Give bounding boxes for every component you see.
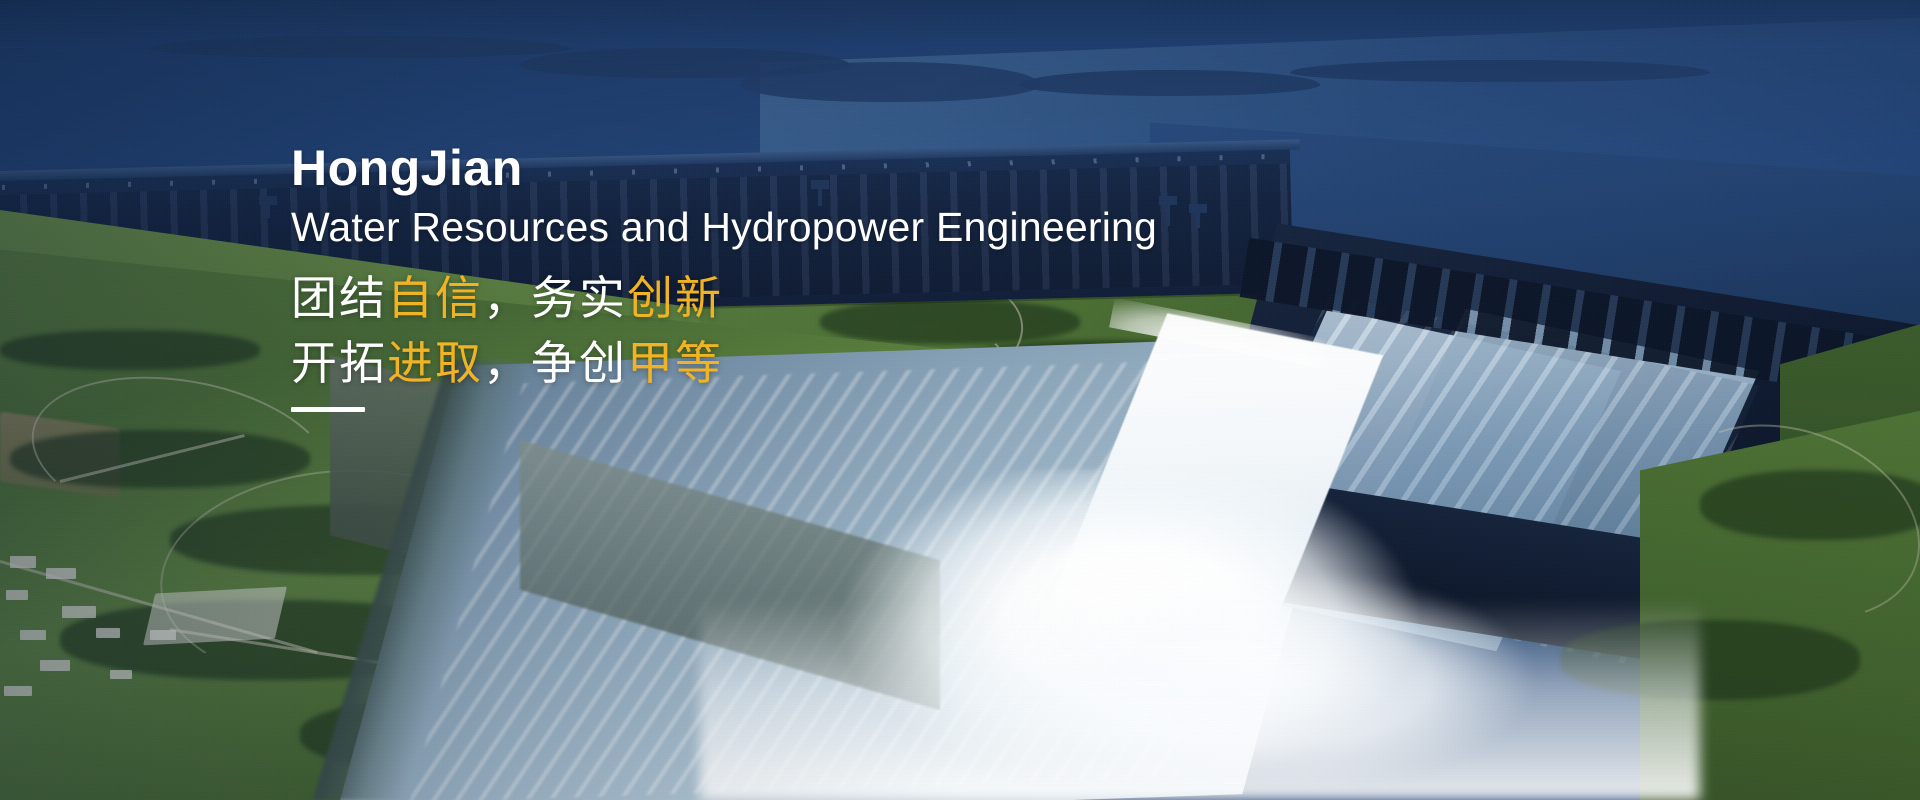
slogan-segment: 团结 xyxy=(291,272,387,324)
hero-banner: HongJian Water Resources and Hydropower … xyxy=(0,0,1920,800)
tagline-english: Water Resources and Hydropower Engineeri… xyxy=(291,205,1291,250)
slogan-segment: 务实 xyxy=(531,272,627,324)
brand-name: HongJian xyxy=(291,142,1291,195)
slogan-line-2: 开拓进取，争创甲等 xyxy=(291,331,1291,396)
slogan-segment-highlight: 创新 xyxy=(627,272,723,324)
slogan-segment: 争创 xyxy=(531,337,627,389)
slogan-comma: ， xyxy=(483,272,531,324)
slogan-segment-highlight: 自信 xyxy=(387,272,483,324)
hero-text-overlay: HongJian Water Resources and Hydropower … xyxy=(291,142,1291,412)
slogan-segment: 开拓 xyxy=(291,337,387,389)
slogan-line-1: 团结自信，务实创新 xyxy=(291,266,1291,331)
slogan-comma: ， xyxy=(483,337,531,389)
accent-underline xyxy=(291,407,365,412)
slogan-segment-highlight: 进取 xyxy=(387,337,483,389)
slogan-segment-highlight: 甲等 xyxy=(627,337,723,389)
